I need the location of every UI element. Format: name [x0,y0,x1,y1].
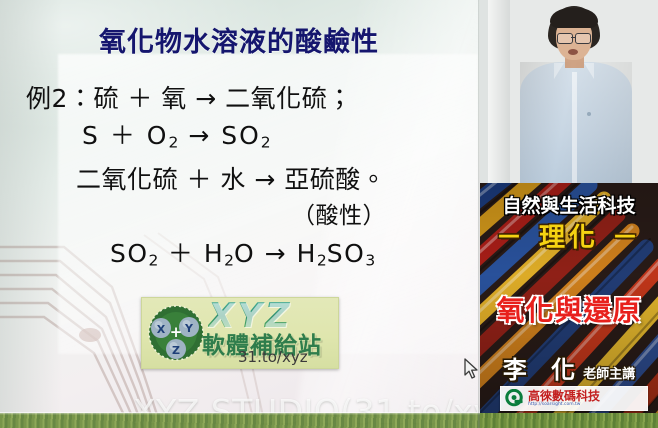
eq2-product-h: H [297,239,317,268]
word-equation-symbols: S ＋ O2 → SO2 [0,117,478,161]
eq2-product-h-sub: 2 [317,252,327,270]
presenter-video[interactable] [480,0,658,183]
slide-body: 例2：硫 ＋ 氧 → 二氧化硫； S ＋ O2 → SO2 二氧化硫 ＋ 水 →… [0,80,478,280]
eq2-reactant-h2o-tail: O [234,239,255,268]
poster-topic: 氧化與還原 [480,289,658,329]
presenter-shading [520,62,632,183]
poster-course: － 理化 － [480,217,658,254]
svg-text:X: X [157,323,166,336]
eq2-reactant-so2-sub: 2 [149,252,159,270]
svg-text:+: + [170,323,183,341]
publisher-name: 高徠數碼科技 [528,390,600,402]
publisher-logo-text: 高徠數碼科技 http://soarsight.com.tw [528,390,600,408]
example-line: 例2：硫 ＋ 氧 → 二氧化硫； [0,80,478,117]
svg-text:Y: Y [184,322,194,335]
publisher-logo: 高徠數碼科技 http://soarsight.com.tw [500,386,648,411]
eq1-plus: ＋ [110,121,137,150]
publisher-url: http://soarsight.com.tw [528,403,600,408]
svg-text:Z: Z [172,344,180,357]
presenter-glasses-left [557,33,573,44]
eq2-reactant-h2o: H [204,239,224,268]
publisher-logo-icon [505,389,524,408]
xyz-brand-url: 31.to/xyz [238,348,308,366]
word-equation-chinese: 二氧化硫 ＋ 水 → 亞硫酸。 [0,161,478,198]
eq1-reactant-o2-sub: 2 [168,133,178,151]
xyz-globe-icon: X Y Z + [147,304,205,362]
eq1-product-so2-sub: 2 [261,133,271,151]
poster-subject: 自然與生活科技 [480,191,658,218]
acidity-annotation: （酸性） [0,198,478,235]
eq2-plus: ＋ [168,239,195,268]
lecture-slide-screen: 氧化物水溶液的酸鹼性 例2：硫 ＋ 氧 → 二氧化硫； S ＋ O2 → SO2… [0,0,658,428]
eq2-reactant-so2: SO [110,239,149,268]
eq1-reactant-o2: O [147,121,169,150]
eq2-reactant-h2o-sub: 2 [224,252,234,270]
presenter-fringe [550,8,598,28]
right-panel: 自然與生活科技 － 理化 － 氧化與還原 李 化老師主講 高徠數碼科技 http… [480,0,658,428]
eq2-product-so-sub: 3 [365,252,375,270]
eq1-product-so2: SO [221,121,261,150]
eq1-arrow: → [188,121,211,150]
eq1-reactant-s: S [82,121,100,150]
page-title: 氧化物水溶液的酸鹼性 [0,20,478,59]
poster-teacher: 李 化老師主講 [480,350,658,385]
presenter-glasses-bridge [571,37,575,38]
poster-teacher-name: 李 化 [503,356,583,384]
presenter-mouth [568,49,578,55]
poster-teacher-role: 老師主講 [583,367,635,382]
video-background-door [488,0,510,183]
formula-equation: SO2 ＋ H2O → H2SO3 [0,235,478,279]
course-poster: 自然與生活科技 － 理化 － 氧化與還原 李 化老師主講 高徠數碼科技 http… [480,183,658,413]
presenter-glasses-right [575,33,591,44]
eq2-product-so: SO [327,239,366,268]
eq2-arrow: → [265,239,287,268]
xyz-watermark-badge: X Y Z + XYZ 軟體補給站 31.to/xyz [141,297,339,369]
poster-bottom-grass [480,413,658,428]
